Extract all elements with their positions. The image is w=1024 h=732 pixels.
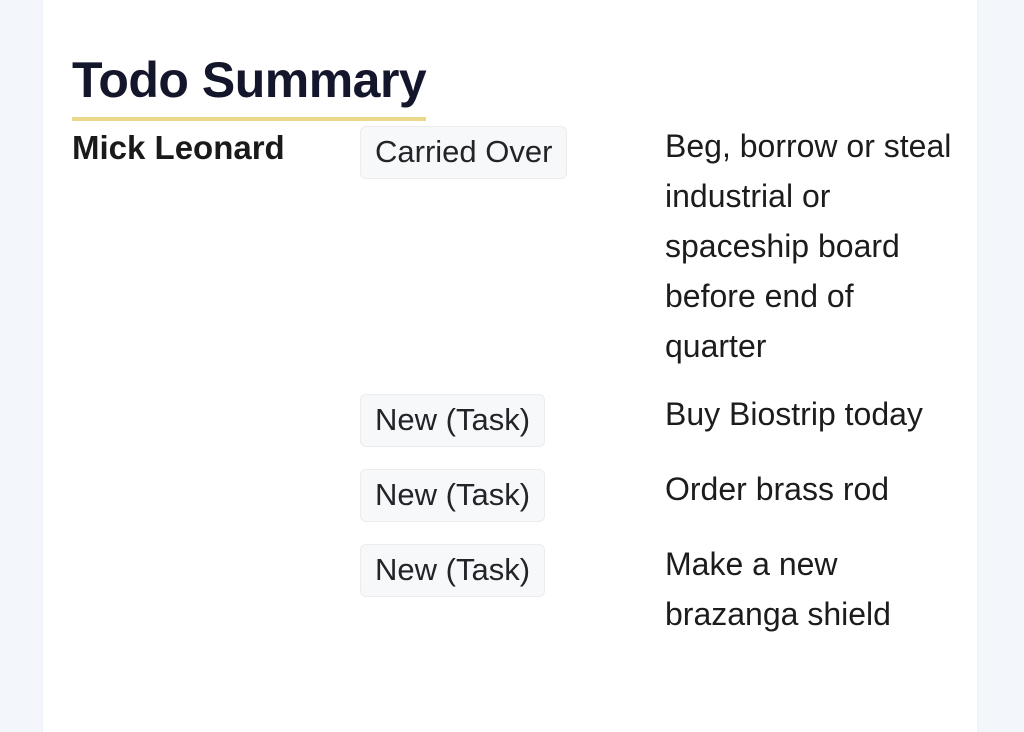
todo-summary-page: Todo Summary Mick Leonard Carried Over B… — [0, 0, 1024, 732]
content-sheet: Todo Summary Mick Leonard Carried Over B… — [44, 0, 977, 732]
table-row: New (Task) Buy Biostrip today — [72, 390, 962, 465]
table-row: New (Task) Make a new brazanga shield — [72, 540, 962, 658]
page-title: Todo Summary — [72, 52, 426, 121]
status-badge: New (Task) — [360, 544, 545, 597]
table-row: New (Task) Order brass rod — [72, 465, 962, 540]
task-description: Beg, borrow or steal industrial or space… — [643, 122, 962, 390]
right-gutter — [977, 0, 1024, 732]
status-badge: Carried Over — [360, 126, 567, 179]
owner-name: Mick Leonard — [72, 122, 360, 173]
task-description: Make a new brazanga shield — [643, 540, 962, 658]
todo-table: Mick Leonard Carried Over Beg, borrow or… — [72, 122, 962, 658]
task-description: Buy Biostrip today — [643, 390, 962, 465]
left-gutter — [0, 0, 43, 732]
status-badge: New (Task) — [360, 469, 545, 522]
status-badge: New (Task) — [360, 394, 545, 447]
table-row: Mick Leonard Carried Over Beg, borrow or… — [72, 122, 962, 390]
task-description: Order brass rod — [643, 465, 962, 540]
